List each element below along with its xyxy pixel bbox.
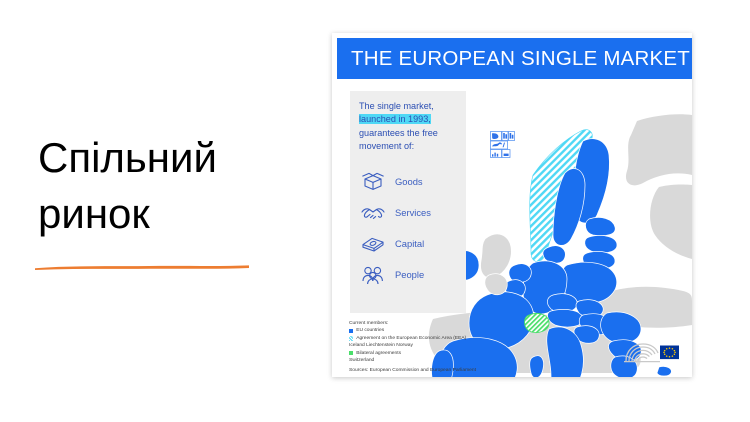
intro-after-highlight: guarantees the free movement of:: [359, 128, 438, 151]
freedom-item-services: Services: [360, 197, 464, 227]
page-title-line-2: ринок: [38, 186, 308, 242]
title-underline-decoration: [33, 258, 251, 267]
freedom-label-people: People: [395, 269, 424, 280]
legend-source: Sources: European Commission and Europea…: [349, 368, 549, 373]
legend-label-eu: EU countries: [356, 327, 384, 334]
infographic-banner: THE EUROPEAN SINGLE MARKET: [337, 38, 692, 79]
intro-paragraph: The single market, launched in 1993, gua…: [359, 100, 459, 154]
money-stack-icon: [360, 232, 386, 254]
european-parliament-logo: [620, 337, 682, 365]
intro-highlight: launched in 1993,: [359, 114, 431, 124]
map-thumbnail-grid-icon: [490, 131, 522, 158]
legend-entry-eu: EU countries: [349, 327, 549, 334]
handshake-icon: [360, 201, 386, 223]
map-legend: Current members: EU countries Agreement …: [349, 320, 549, 373]
legend-label-eea: Agreement on the European Economic Area …: [356, 335, 466, 342]
freedom-item-capital: Capital: [360, 228, 464, 258]
legend-label-bilateral: Bilateral agreements: [356, 350, 401, 357]
people-group-icon: [360, 263, 386, 285]
legend-countries-eea: Iceland Liechtenstein Norway: [349, 342, 549, 349]
intro-before-highlight: The single market,: [359, 101, 434, 111]
infographic-card: THE EUROPEAN SINGLE MARKET: [332, 33, 692, 377]
infographic-banner-title: THE EUROPEAN SINGLE MARKET: [351, 47, 690, 71]
freedom-item-goods: Goods: [360, 166, 464, 196]
open-box-icon: [360, 170, 386, 192]
page-title: Спільний ринок: [38, 130, 308, 242]
freedom-item-people: People: [360, 259, 464, 289]
legend-heading: Current members:: [349, 320, 549, 327]
infographic-body: The single market, launched in 1993, gua…: [337, 79, 692, 377]
single-market-text-panel: The single market, launched in 1993, gua…: [350, 91, 466, 313]
page-title-line-1: Спільний: [38, 130, 308, 186]
freedom-label-goods: Goods: [395, 176, 423, 187]
legend-swatch-eu-icon: [349, 329, 353, 333]
legend-countries-bilateral: Switzerland: [349, 357, 549, 364]
legend-swatch-eea-icon: [349, 336, 353, 340]
legend-entry-bilateral: Bilateral agreements: [349, 350, 549, 357]
legend-swatch-bilateral-icon: [349, 351, 353, 355]
legend-entry-eea: Agreement on the European Economic Area …: [349, 335, 549, 342]
freedom-label-capital: Capital: [395, 238, 424, 249]
freedom-label-services: Services: [395, 207, 431, 218]
